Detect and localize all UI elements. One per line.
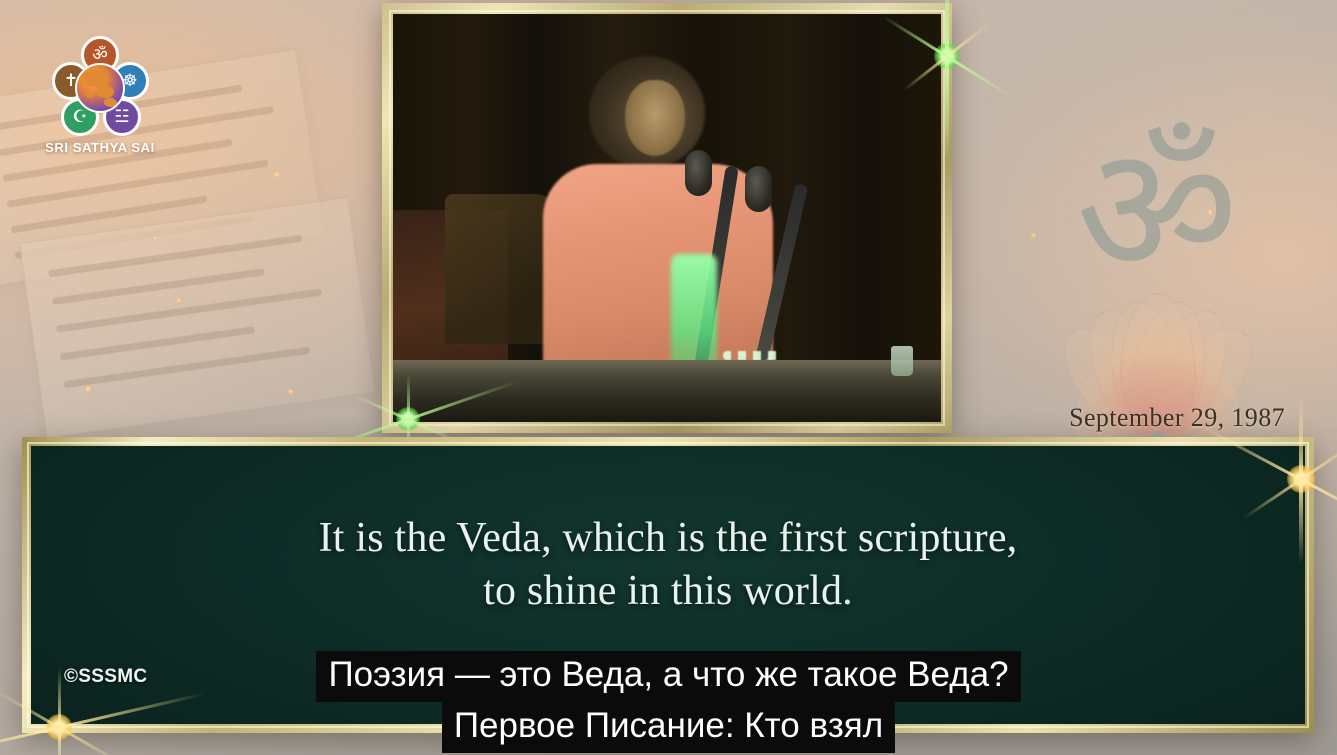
subtitle-line-1: Поэзия — это Веда, а что же такое Веда? bbox=[316, 651, 1020, 702]
light-mote bbox=[84, 385, 92, 393]
light-mote bbox=[152, 235, 158, 241]
video-screen[interactable] bbox=[393, 14, 941, 422]
sarva-dharma-flower: ॐ ☸ ☳ ☪ ✝ bbox=[48, 36, 152, 140]
light-mote bbox=[287, 388, 294, 395]
lotus-flower-decor bbox=[967, 220, 1337, 430]
subtitle-overlay: Поэзия — это Веда, а что же такое Веда? … bbox=[0, 651, 1337, 753]
logo-caption: SRI SATHYA SAI bbox=[45, 140, 155, 155]
microphone-head bbox=[745, 166, 772, 212]
quote-line-1: It is the Veda, which is the first scrip… bbox=[31, 512, 1305, 565]
subtitle-line-2: Первое Писание: Кто взял bbox=[442, 702, 895, 753]
speaker-face bbox=[625, 80, 685, 156]
cup bbox=[891, 346, 913, 376]
om-lotus-background-decor: ॐ bbox=[957, 120, 1337, 440]
video-player-stage: ॐ bbox=[0, 0, 1337, 755]
logo[interactable]: ॐ ☸ ☳ ☪ ✝ SRI SATHYA SAI bbox=[48, 36, 152, 140]
podium-desk bbox=[393, 360, 941, 422]
video-frame[interactable] bbox=[382, 3, 952, 433]
light-mote bbox=[175, 297, 182, 304]
globe-icon bbox=[75, 63, 125, 113]
quote-text: It is the Veda, which is the first scrip… bbox=[31, 512, 1305, 617]
quote-line-2: to shine in this world. bbox=[31, 565, 1305, 618]
light-mote bbox=[1206, 208, 1214, 216]
carved-chair bbox=[445, 194, 557, 344]
light-mote bbox=[272, 170, 281, 179]
light-mote bbox=[1030, 232, 1037, 239]
discourse-date: September 29, 1987 bbox=[1069, 403, 1285, 433]
equipment-lights bbox=[723, 351, 779, 360]
microphone-head bbox=[685, 150, 712, 196]
